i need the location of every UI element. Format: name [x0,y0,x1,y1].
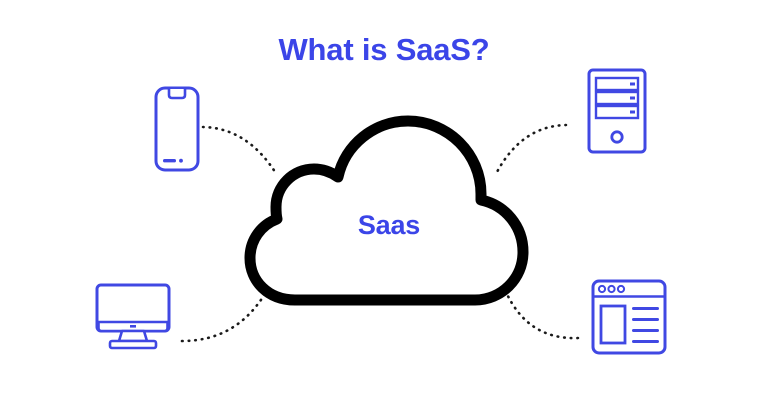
browser-dot-2-icon[interactable] [608,286,614,292]
diagram-illustration: What is SaaS? Saas [0,0,768,402]
browser-dot-1-icon[interactable] [599,286,605,292]
server-drive-led-2 [630,97,635,100]
server-drive-led-3 [630,111,635,114]
browser-text-line-3 [632,329,659,332]
smartphone-camera-dot [179,159,183,163]
browser-text-line-4 [632,340,659,343]
server-tower-icon[interactable] [589,70,645,152]
saas-diagram-canvas: What is SaaS? Saas [0,0,768,402]
smartphone-icon[interactable] [156,88,198,170]
server-power-button-icon[interactable] [612,132,622,142]
browser-dot-3-icon[interactable] [618,286,624,292]
browser-content-block [601,306,625,343]
monitor-stand-neck [119,331,147,341]
smartphone-notch [169,89,185,98]
browser-window-icon[interactable] [593,281,665,353]
monitor-indicator-dash [130,325,136,328]
cloud-label: Saas [358,210,420,240]
server-drive-led-1 [630,83,635,86]
smartphone-speaker-bar [163,159,176,162]
monitor-stand-base [110,341,156,348]
browser-text-line-2 [632,318,659,321]
page-title: What is SaaS? [278,32,489,67]
smartphone-body [156,88,198,170]
browser-text-line-1 [632,307,659,310]
